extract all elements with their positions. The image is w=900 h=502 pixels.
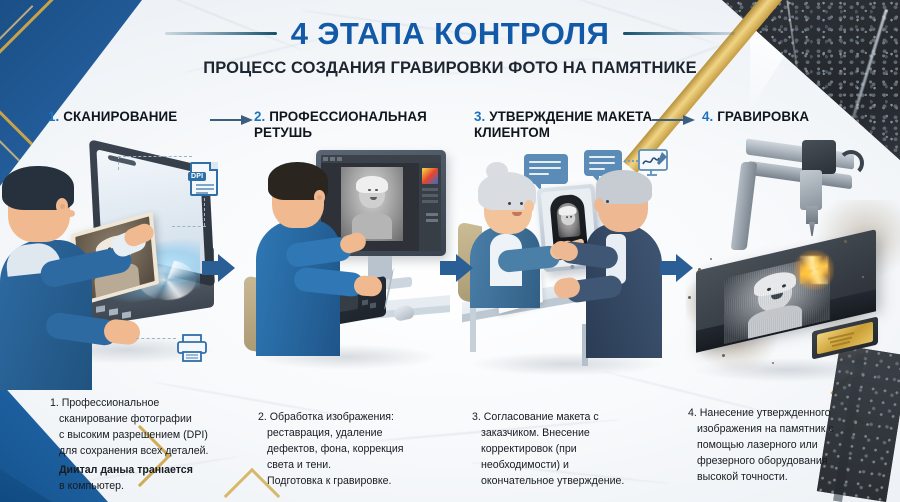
caption-1-extra-line-2: в компьютер. [50, 479, 232, 494]
arrow-between-heading-1-2 [210, 115, 254, 125]
dpi-label: DPI [188, 172, 206, 181]
step-heading-2: 2. ПРОФЕССИОНАЛЬНАЯ РЕТУШЬ [254, 109, 444, 142]
step-label-4: ГРАВИРОВКА [717, 109, 809, 124]
step-heading-4: 4. ГРАВИРОВКА [702, 109, 809, 125]
caption-4-line-4: фрезерного оборудования [688, 454, 874, 469]
arrow-step2-to-step3 [440, 252, 474, 284]
gold-plate-icon [812, 320, 878, 360]
step-label-1: СКАНИРОВАНИЕ [63, 109, 177, 124]
step-number-3: 3. [474, 109, 485, 124]
step-number-2: 2. [254, 109, 265, 124]
caption-2-line-3: дефектов, фона, коррекция [258, 442, 436, 457]
caption-1-line-3: с высоким разрешением (DPI) [50, 428, 232, 443]
caption-2-line-1: 2. Обработка изображения: [258, 410, 436, 425]
page-subtitle: ПРОЦЕСС СОЗДАНИЯ ГРАВИРОВКИ ФОТО НА ПАМЯ… [0, 59, 900, 78]
caption-3-line-5: окончательное утверждение. [472, 474, 654, 489]
step-heading-1: 1. СКАНИРОВАНИЕ [48, 109, 177, 125]
caption-1-extra-line-1: Диитал даныа транιается [50, 463, 232, 478]
page-title: 4 ЭТАПА КОНТРОЛЯ [291, 18, 610, 49]
title-rule-left [165, 32, 277, 35]
poster-header: 4 ЭТАПА КОНТРОЛЯ ПРОЦЕСС СОЗДАНИЯ ГРАВИР… [0, 18, 900, 78]
step-label-3: УТВЕРЖДЕНИЕ МАКЕТА КЛИЕНТОМ [474, 109, 652, 140]
caption-row: 1. Профессиональное сканирование фотогра… [0, 392, 900, 502]
caption-1: 1. Профессиональное сканирование фотогра… [50, 396, 232, 494]
caption-2-line-2: реставрация, удаление [258, 426, 436, 441]
caption-2-line-4: света и тени. [258, 458, 436, 473]
illustration-band: DPI [0, 148, 900, 390]
caption-1-line-4: для сохранения всех деталей. [50, 444, 232, 459]
caption-2: 2. Обработка изображения: реставрация, у… [258, 410, 436, 489]
caption-1-line-2: сканирование фотографии [50, 412, 232, 427]
panel-approval [456, 148, 674, 390]
step-heading-3: 3. УТВЕРЖДЕНИЕ МАКЕТА КЛИЕНТОМ [474, 109, 662, 142]
infographic-poster: 4 ЭТАПА КОНТРОЛЯ ПРОЦЕСС СОЗДАНИЯ ГРАВИР… [0, 0, 900, 502]
dpi-document-icon: DPI [190, 162, 218, 196]
arrow-between-heading-3-4 [652, 115, 696, 125]
step-number-4: 4. [702, 109, 713, 124]
caption-4-line-1: 4. Нанесение утвержденного [688, 406, 874, 421]
caption-3: 3. Согласование макета с заказчиком. Вне… [472, 410, 654, 489]
caption-3-line-3: корректировок (при [472, 442, 654, 457]
panel-retouch [238, 148, 452, 390]
caption-2-line-5: Подготовка к гравировке. [258, 474, 436, 489]
arrow-step1-to-step2 [202, 252, 236, 284]
caption-3-line-4: необходимости) и [472, 458, 654, 473]
step-number-1: 1. [48, 109, 59, 124]
caption-4-line-3: помощью лазерного или [688, 438, 874, 453]
arrow-step3-to-step4 [660, 252, 694, 284]
panel-scanning: DPI [0, 148, 232, 390]
panel-engraving [676, 148, 900, 390]
caption-3-line-2: заказчиком. Внесение [472, 426, 654, 441]
printer-icon [176, 334, 208, 360]
caption-4: 4. Нанесение утвержденного изображения н… [688, 406, 874, 485]
step-label-2: ПРОФЕССИОНАЛЬНАЯ РЕТУШЬ [254, 109, 427, 140]
caption-4-line-2: изображения на памятник с [688, 422, 874, 437]
caption-4-line-5: высокой точности. [688, 470, 874, 485]
caption-1-line-1: 1. Профессиональное [50, 396, 232, 411]
caption-3-line-1: 3. Согласование макета с [472, 410, 654, 425]
title-rule-right [623, 32, 735, 35]
